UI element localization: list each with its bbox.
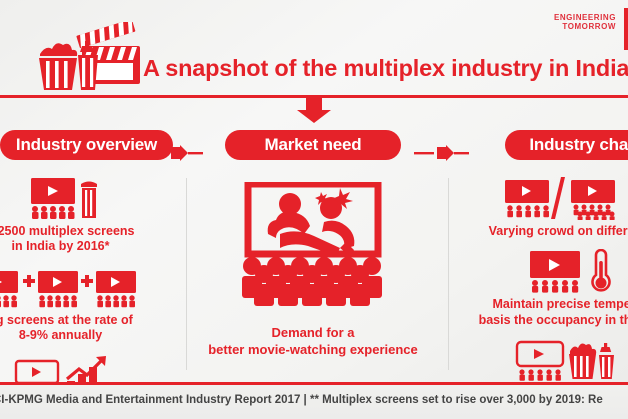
column-market-need: Market need [188,130,438,380]
footer-source-note: CI-KPMG Media and Entertainment Industry… [0,394,603,406]
popcorn-drink-clapperboard-icon [36,22,148,94]
list-item: Maintain precise tempera basis the occup… [455,249,628,328]
list-item-caption: d 2500 multiplex screens in India by 201… [0,224,173,255]
column-title-market-need: Market need [225,130,401,160]
market-need-caption-line1: Demand for a [188,324,438,341]
column-industry-overview: Industry overview [0,130,173,380]
list-item: Varying crowd on different [455,176,628,239]
list-item: ng screens at the rate of 8-9% annually [0,265,173,344]
screen-audience-thermometer-icon [455,249,628,293]
two-screens-crowd-comparison-icon [455,176,628,220]
list-item-caption: Maintain precise tempera basis the occup… [455,297,628,328]
brand-accent-bar [624,8,628,50]
brand-tagline-line2: TOMORROW [554,23,616,32]
industry-challenges-items: Varying crowd on different [455,176,628,401]
market-need-caption: Demand for a better movie-watching exper… [188,324,438,358]
movie-screen-action-scene-audience-icon [188,182,438,312]
page-title: A snapshot of the multiplex industry in … [143,55,628,82]
list-item-caption: Varying crowd on different [455,224,628,239]
screen-popcorn-drink-icon [455,338,628,382]
infographic-page: ENGINEERING TOMORROW [0,0,628,419]
list-item: d 2500 multiplex screens in India by 201… [0,176,173,255]
column-industry-challenges: Industry challen [455,130,628,380]
list-item-caption: ng screens at the rate of 8-9% annually [0,313,173,344]
brand-tagline: ENGINEERING TOMORROW [554,14,616,32]
footer: CI-KPMG Media and Entertainment Industry… [0,385,628,419]
column-title-industry-challenges: Industry challen [505,130,628,160]
three-screens-plus-icon [0,265,173,309]
down-arrow-icon [297,97,331,123]
header: ENGINEERING TOMORROW [0,0,628,97]
column-title-industry-overview: Industry overview [0,130,173,160]
column-divider-1 [186,178,187,370]
market-need-caption-line2: better movie-watching experience [188,341,438,358]
column-divider-2 [448,178,449,370]
cinema-screen-audience-pillar-icon [0,176,173,220]
